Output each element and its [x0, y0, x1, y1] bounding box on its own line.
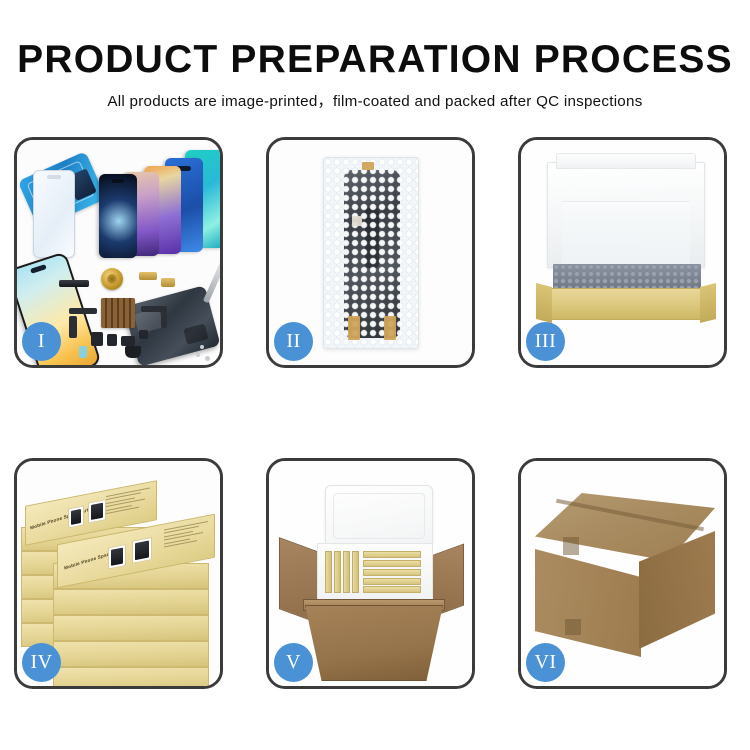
- carton-front-face: [535, 549, 641, 657]
- inner-box: [363, 560, 421, 567]
- tape-icon: [362, 162, 374, 170]
- spec-lines: [164, 521, 208, 550]
- box-window: [68, 505, 84, 528]
- chip-array-icon: [101, 298, 135, 328]
- step-badge-4: IV: [22, 643, 61, 682]
- kraft-box-base: [543, 288, 709, 320]
- bubble-wrap-bag: [323, 157, 419, 349]
- inner-box: [363, 578, 421, 585]
- tape-icon: [384, 316, 396, 340]
- process-step-3: III: [518, 137, 727, 368]
- small-part-icon: [79, 346, 87, 358]
- step-badge-2: II: [274, 322, 313, 361]
- carton-tab: [565, 619, 581, 635]
- carton-tab: [563, 537, 579, 555]
- spec-lines: [106, 488, 150, 517]
- tape-icon: [348, 316, 360, 340]
- tempered-glass-icon: [33, 170, 75, 258]
- tape-icon: [352, 216, 362, 226]
- header: PRODUCT PREPARATION PROCESS All products…: [0, 0, 750, 111]
- wireless-charging-coil-icon: [101, 268, 123, 290]
- flex-cable-icon: [69, 316, 77, 338]
- flex-cable-icon: [161, 312, 167, 328]
- grey-bubble-padding: [553, 264, 701, 290]
- phone-dark-icon: [99, 174, 137, 258]
- process-step-1: I: [14, 137, 223, 368]
- stacked-box: [53, 615, 209, 641]
- camera-module-icon: [125, 346, 141, 358]
- process-step-2: II: [266, 137, 475, 368]
- carton-body: [305, 605, 443, 681]
- step-badge-5: V: [274, 643, 313, 682]
- bubble-texture: [324, 158, 418, 348]
- box-window: [88, 499, 106, 523]
- inner-box: [343, 551, 350, 593]
- small-part-icon: [121, 336, 135, 346]
- gold-contact-icon: [139, 272, 157, 280]
- step-badge-6: VI: [526, 643, 565, 682]
- page-title: PRODUCT PREPARATION PROCESS: [0, 40, 750, 80]
- screw-icon: [205, 356, 210, 361]
- step-badge-3: III: [526, 322, 565, 361]
- inner-boxes: [325, 551, 425, 593]
- battery-connector-icon: [59, 280, 89, 287]
- step-badge-1: I: [22, 322, 61, 361]
- inner-box: [363, 569, 421, 576]
- box-window: [132, 537, 152, 564]
- process-step-6: VI: [518, 458, 727, 689]
- styrofoam-lid: [325, 485, 433, 547]
- white-inner-lid: [547, 162, 705, 268]
- stacked-box: [53, 667, 209, 686]
- small-part-icon: [139, 330, 148, 339]
- small-part-icon: [107, 334, 117, 346]
- inner-box: [334, 551, 341, 593]
- screw-icon: [200, 345, 204, 349]
- process-step-4: Mobile Phone Spare Parts Mobile Phone Sp…: [14, 458, 223, 689]
- page-subtitle: All products are image-printed，film-coat…: [0, 89, 750, 111]
- inner-box: [363, 551, 421, 558]
- process-step-grid: I II III: [14, 137, 736, 689]
- small-part-icon: [91, 332, 103, 346]
- box-window: [108, 544, 126, 569]
- inner-box: [363, 586, 421, 593]
- stacked-box: [53, 641, 209, 667]
- inner-box: [325, 551, 332, 593]
- gold-contact-icon: [161, 278, 175, 287]
- flex-cable-icon: [69, 308, 97, 314]
- screw-icon: [196, 353, 200, 357]
- stacked-box: [53, 589, 209, 615]
- process-step-5: V: [266, 458, 475, 689]
- inner-box: [352, 551, 359, 593]
- tweezers-icon: [203, 259, 220, 303]
- product-preparation-infographic: PRODUCT PREPARATION PROCESS All products…: [0, 0, 750, 750]
- phone-lineup: [79, 148, 220, 258]
